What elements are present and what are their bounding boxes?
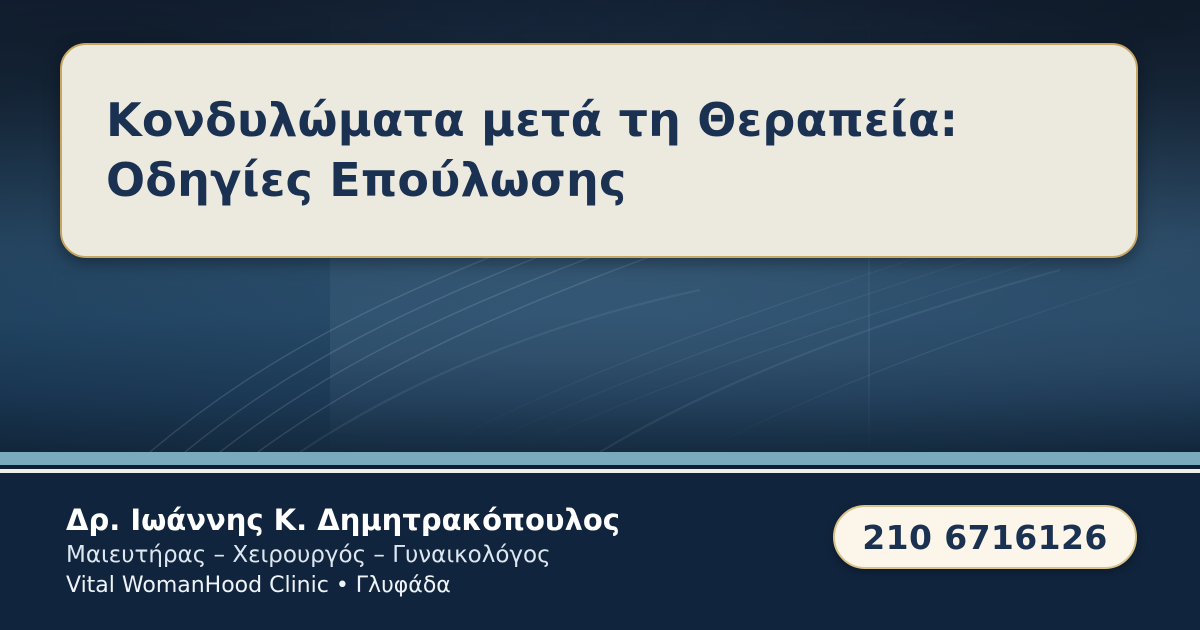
poster-canvas: Κονδυλώματα μετά τη Θεραπεία: Οδηγίες Επ… (0, 0, 1200, 630)
phone-number: 210 6716126 (862, 518, 1108, 557)
phone-badge[interactable]: 210 6716126 (833, 505, 1137, 569)
doctor-specialty: Μαιευτήρας – Χειρουργός – Γυναικολόγος (66, 542, 620, 568)
divider-band-teal (0, 452, 1200, 465)
clinic-location: Vital WomanHood Clinic • Γλυφάδα (66, 573, 620, 598)
page-title: Κονδυλώματα μετά τη Θεραπεία: Οδηγίες Επ… (106, 91, 1092, 211)
footer-credentials-block: Δρ. Ιωάννης Κ. Δημητρακόπουλος Μαιευτήρα… (66, 473, 620, 630)
title-card: Κονδυλώματα μετά τη Θεραπεία: Οδηγίες Επ… (60, 43, 1138, 258)
doctor-name: Δρ. Ιωάννης Κ. Δημητρακόπουλος (66, 504, 620, 536)
